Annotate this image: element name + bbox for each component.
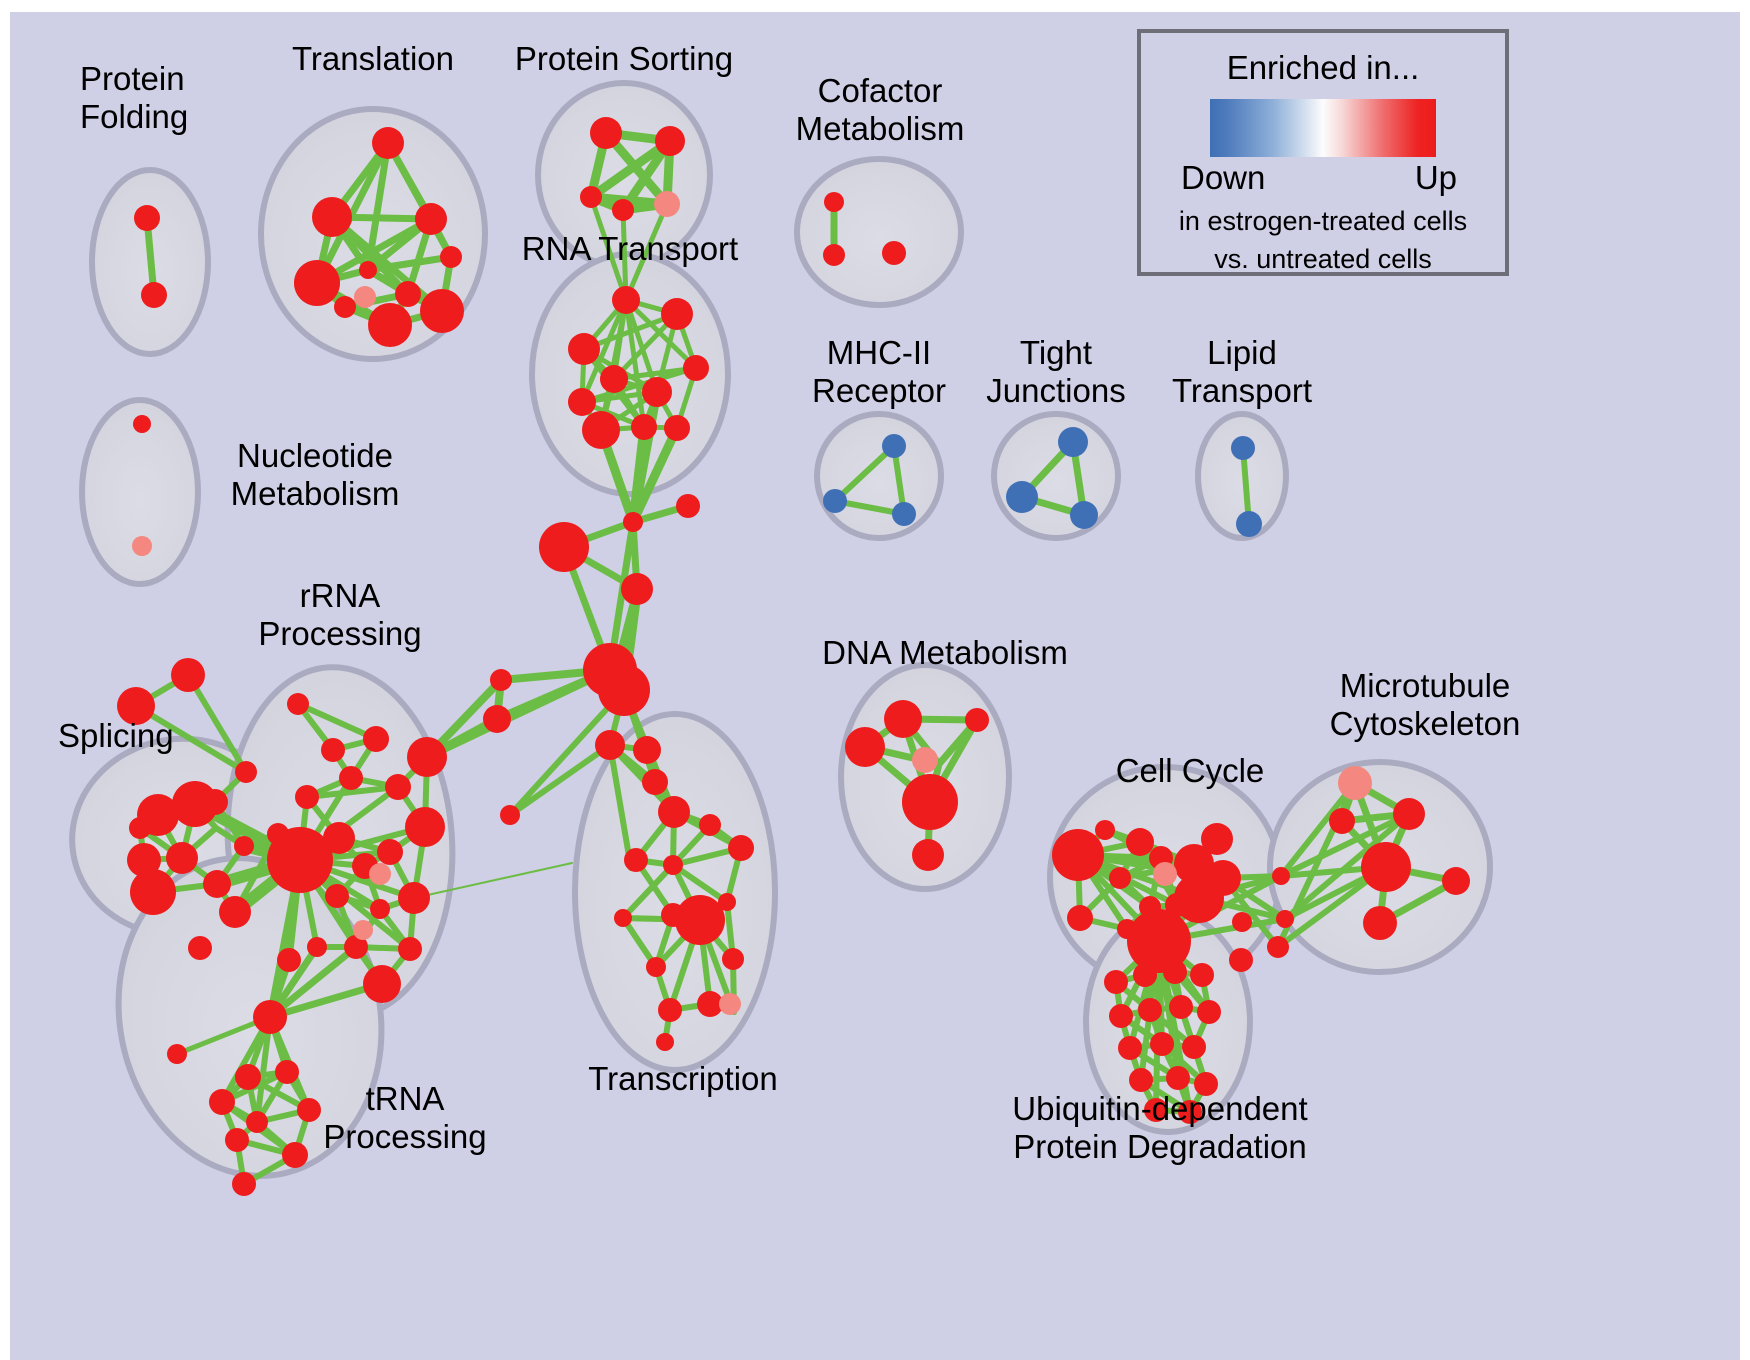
node — [580, 186, 602, 208]
node — [405, 807, 445, 847]
node — [166, 842, 198, 874]
node — [568, 388, 596, 416]
node — [612, 286, 640, 314]
node — [369, 863, 391, 885]
node — [235, 761, 257, 783]
node — [385, 774, 411, 800]
node — [282, 1142, 308, 1168]
node — [1272, 867, 1290, 885]
node — [130, 869, 176, 915]
node — [117, 687, 155, 725]
hull-cofactor-metabolism — [797, 159, 961, 305]
node — [1232, 912, 1252, 932]
hull-tight-junctions — [994, 414, 1118, 538]
node — [845, 727, 885, 767]
node — [415, 203, 447, 235]
node — [1201, 823, 1233, 855]
node — [912, 839, 944, 871]
legend-up-label: Up — [1415, 159, 1457, 197]
node — [1166, 1066, 1190, 1090]
node — [372, 127, 404, 159]
node — [595, 730, 625, 760]
node — [295, 785, 319, 809]
node — [656, 1033, 674, 1051]
node — [1361, 842, 1411, 892]
node — [1197, 1000, 1221, 1024]
node — [631, 414, 657, 440]
node — [614, 909, 632, 927]
figure-canvas: Protein Folding Translation Protein Sort… — [0, 0, 1750, 1360]
node — [407, 737, 447, 777]
node — [1153, 862, 1177, 886]
node — [1070, 501, 1098, 529]
legend-panel: Enriched in... Down Up in estrogen-treat… — [1137, 29, 1509, 276]
node — [600, 365, 628, 393]
node — [370, 899, 390, 919]
node — [823, 489, 847, 513]
node — [232, 1172, 256, 1196]
node — [1109, 867, 1131, 889]
hull-mhc-ii — [817, 414, 941, 538]
node — [676, 494, 700, 518]
node — [658, 796, 690, 828]
node — [912, 747, 938, 773]
node — [1129, 1068, 1153, 1092]
node — [353, 920, 373, 940]
node — [1095, 820, 1115, 840]
node — [1144, 1098, 1168, 1122]
node — [312, 197, 352, 237]
node — [1229, 948, 1253, 972]
node — [621, 573, 653, 605]
node — [633, 736, 661, 764]
node — [297, 1098, 321, 1122]
node — [623, 512, 643, 532]
node — [823, 244, 845, 266]
node — [1194, 1072, 1218, 1096]
node — [658, 998, 682, 1022]
legend-color-gradient-bar — [1210, 99, 1436, 157]
node — [1169, 995, 1193, 1019]
node — [1276, 910, 1294, 928]
node — [368, 303, 412, 347]
node — [824, 192, 844, 212]
node — [722, 948, 744, 970]
node — [1126, 828, 1154, 856]
node — [642, 377, 672, 407]
node — [235, 1064, 261, 1090]
node — [354, 286, 376, 308]
node — [277, 948, 301, 972]
node — [141, 282, 167, 308]
node — [1363, 906, 1397, 940]
network-plot-area: Protein Folding Translation Protein Sort… — [10, 12, 1740, 1360]
node — [209, 1089, 235, 1115]
node — [132, 536, 152, 556]
node — [654, 191, 680, 217]
node — [664, 415, 690, 441]
node — [642, 769, 668, 795]
node — [395, 281, 421, 307]
legend-endpoints: Down Up — [1141, 159, 1505, 199]
node — [134, 205, 160, 231]
node — [582, 411, 620, 449]
node — [590, 117, 622, 149]
node — [882, 241, 906, 265]
node — [1329, 808, 1355, 834]
node — [1104, 970, 1128, 994]
node — [661, 298, 693, 330]
node — [1138, 998, 1162, 1022]
node — [377, 839, 403, 865]
node — [719, 993, 741, 1015]
node — [490, 669, 512, 691]
node — [598, 664, 650, 716]
node — [420, 289, 464, 333]
node — [398, 937, 422, 961]
node — [884, 700, 922, 738]
node — [363, 726, 389, 752]
legend-down-label: Down — [1181, 159, 1265, 197]
node — [246, 1111, 268, 1133]
node — [1442, 867, 1470, 895]
node — [892, 502, 916, 526]
node — [718, 893, 736, 911]
node — [363, 965, 401, 1003]
node — [699, 814, 721, 836]
node — [624, 848, 648, 872]
node — [902, 774, 958, 830]
node — [202, 789, 228, 815]
node — [1067, 905, 1093, 931]
node — [321, 738, 345, 762]
node — [307, 937, 327, 957]
node — [663, 855, 683, 875]
node — [500, 805, 520, 825]
node — [882, 434, 906, 458]
node — [219, 896, 251, 928]
node — [188, 936, 212, 960]
node — [1163, 960, 1187, 984]
node — [1178, 1100, 1202, 1124]
node — [171, 658, 205, 692]
node — [1267, 936, 1289, 958]
node — [539, 522, 589, 572]
node — [683, 355, 709, 381]
node — [1190, 963, 1214, 987]
node — [294, 260, 340, 306]
node — [167, 1044, 187, 1064]
node — [1052, 829, 1104, 881]
node — [1182, 1035, 1206, 1059]
node — [203, 870, 231, 898]
node — [1006, 481, 1038, 513]
legend-subtitle-line1: in estrogen-treated cells — [1141, 205, 1505, 237]
node — [1133, 963, 1157, 987]
node — [1058, 427, 1088, 457]
legend-subtitle-line2: vs. untreated cells — [1141, 243, 1505, 275]
node — [483, 705, 511, 733]
node — [1150, 1032, 1174, 1056]
node — [325, 884, 349, 908]
node — [129, 817, 151, 839]
node — [133, 415, 151, 433]
node — [287, 693, 309, 715]
node — [655, 126, 685, 156]
node — [965, 708, 989, 732]
node — [1393, 798, 1425, 830]
node — [568, 333, 600, 365]
node — [1109, 1004, 1133, 1028]
node — [728, 835, 754, 861]
node — [323, 822, 355, 854]
node — [646, 957, 666, 977]
node — [275, 1060, 299, 1084]
node — [253, 1000, 287, 1034]
node — [225, 1128, 249, 1152]
node — [661, 903, 685, 927]
node — [612, 199, 634, 221]
node — [339, 766, 363, 790]
node — [398, 882, 430, 914]
node — [334, 296, 356, 318]
node — [1174, 873, 1224, 923]
node — [1338, 766, 1372, 800]
node — [1118, 1036, 1142, 1060]
node — [440, 246, 462, 268]
node — [234, 836, 254, 856]
legend-title: Enriched in... — [1141, 49, 1505, 87]
node — [1236, 511, 1262, 537]
node — [359, 261, 377, 279]
node — [1231, 436, 1255, 460]
